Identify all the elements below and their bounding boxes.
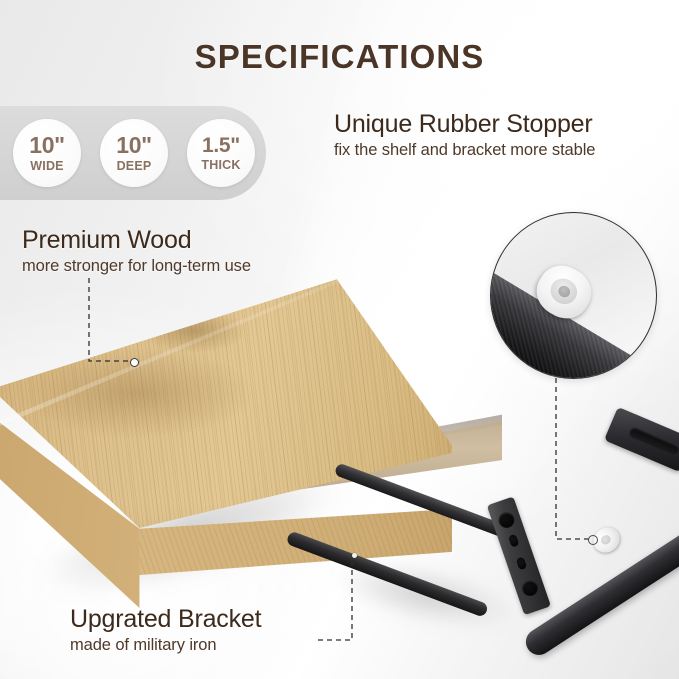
bracket-arm-plate [604, 407, 679, 473]
badge-thickness-label: THICK [201, 159, 240, 172]
bracket-slot-upper [508, 534, 519, 548]
badge-thickness: 1.5" THICK [187, 119, 255, 187]
bracket-screw-dot [352, 553, 357, 558]
badge-width-number: 10" [29, 134, 65, 157]
callout-premium-wood-sub: more stronger for long-term use [22, 257, 251, 276]
callout-rubber-stopper: Unique Rubber Stopper fix the shelf and … [334, 110, 595, 160]
callout-premium-wood: Premium Wood more stronger for long-term… [22, 226, 251, 276]
badge-thickness-number: 1.5" [202, 135, 240, 156]
bracket-hole-top [496, 510, 516, 530]
specifications-infographic: 10" WIDE 10" DEEP 1.5" THICK SPECIFICATI… [0, 0, 679, 679]
badge-width-label: WIDE [30, 160, 63, 173]
callout-upgraded-bracket-sub: made of military iron [70, 636, 261, 655]
rubber-stopper-magnified-detail [490, 212, 657, 379]
badge-depth-number: 10" [116, 134, 152, 157]
badge-width: 10" WIDE [13, 119, 81, 187]
floating-wood-shelf [0, 278, 502, 608]
bracket-hole-bottom [520, 578, 540, 598]
page-title: SPECIFICATIONS [0, 38, 679, 76]
bracket-arm-slot [627, 426, 679, 457]
callout-rubber-stopper-sub: fix the shelf and bracket more stable [334, 141, 595, 160]
callout-upgraded-bracket: Upgrated Bracket made of military iron [70, 605, 261, 655]
leader-marker-wood [130, 358, 139, 367]
leader-marker-stopper [588, 535, 598, 545]
badge-depth: 10" DEEP [100, 119, 168, 187]
callout-rubber-stopper-heading: Unique Rubber Stopper [334, 110, 595, 139]
callout-premium-wood-heading: Premium Wood [22, 226, 251, 255]
callout-upgraded-bracket-heading: Upgrated Bracket [70, 605, 261, 634]
badge-depth-label: DEEP [117, 160, 152, 173]
leader-line-stopper [556, 378, 589, 539]
bracket-slot-lower [516, 556, 527, 570]
